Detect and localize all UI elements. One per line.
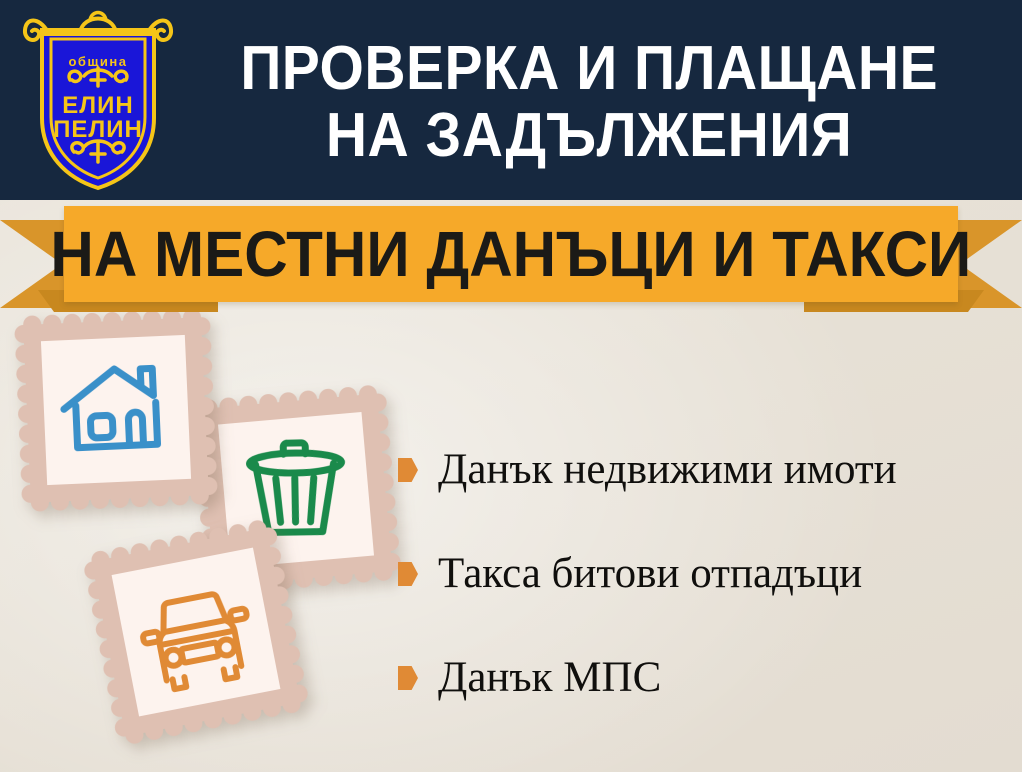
municipality-crest-logo: община ЕЛИН ПЕЛИН <box>18 6 178 192</box>
list-item-label: Данък МПС <box>438 655 661 700</box>
list-item[interactable]: Такса битови отпадъци <box>398 522 1008 626</box>
arrow-bullet-icon <box>398 666 418 690</box>
svg-text:ЕЛИН: ЕЛИН <box>62 92 133 119</box>
arrow-bullet-icon <box>398 562 418 586</box>
list-item[interactable]: Данък МПС <box>398 626 1008 730</box>
ribbon-text: НА МЕСТНИ ДАНЪЦИ И ТАКСИ <box>51 222 972 286</box>
page-title-line-1: ПРОВЕРКА И ПЛАЩАНЕ <box>241 39 939 100</box>
tax-types-list: Данък недвижими имоти Такса битови отпад… <box>398 418 1008 730</box>
ribbon-banner: НА МЕСТНИ ДАНЪЦИ И ТАКСИ <box>0 198 1022 314</box>
svg-text:ПЕЛИН: ПЕЛИН <box>53 116 143 143</box>
ribbon-band: НА МЕСТНИ ДАНЪЦИ И ТАКСИ <box>64 206 958 302</box>
list-item[interactable]: Данък недвижими имоти <box>398 418 1008 522</box>
list-item-label: Данък недвижими имоти <box>438 447 897 492</box>
header-title-block: ПРОВЕРКА И ПЛАЩАНЕ НА ЗАДЪЛЖЕНИЯ <box>175 14 1004 192</box>
poster-canvas: ПРОВЕРКА И ПЛАЩАНЕ НА ЗАДЪЛЖЕНИЯ община <box>0 0 1022 772</box>
stamp-card-property <box>14 308 218 512</box>
arrow-bullet-icon <box>398 458 418 482</box>
stamp-card-vehicle <box>81 517 311 747</box>
list-item-label: Такса битови отпадъци <box>438 551 862 596</box>
page-title-line-2: НА ЗАДЪЛЖЕНИЯ <box>326 106 852 167</box>
